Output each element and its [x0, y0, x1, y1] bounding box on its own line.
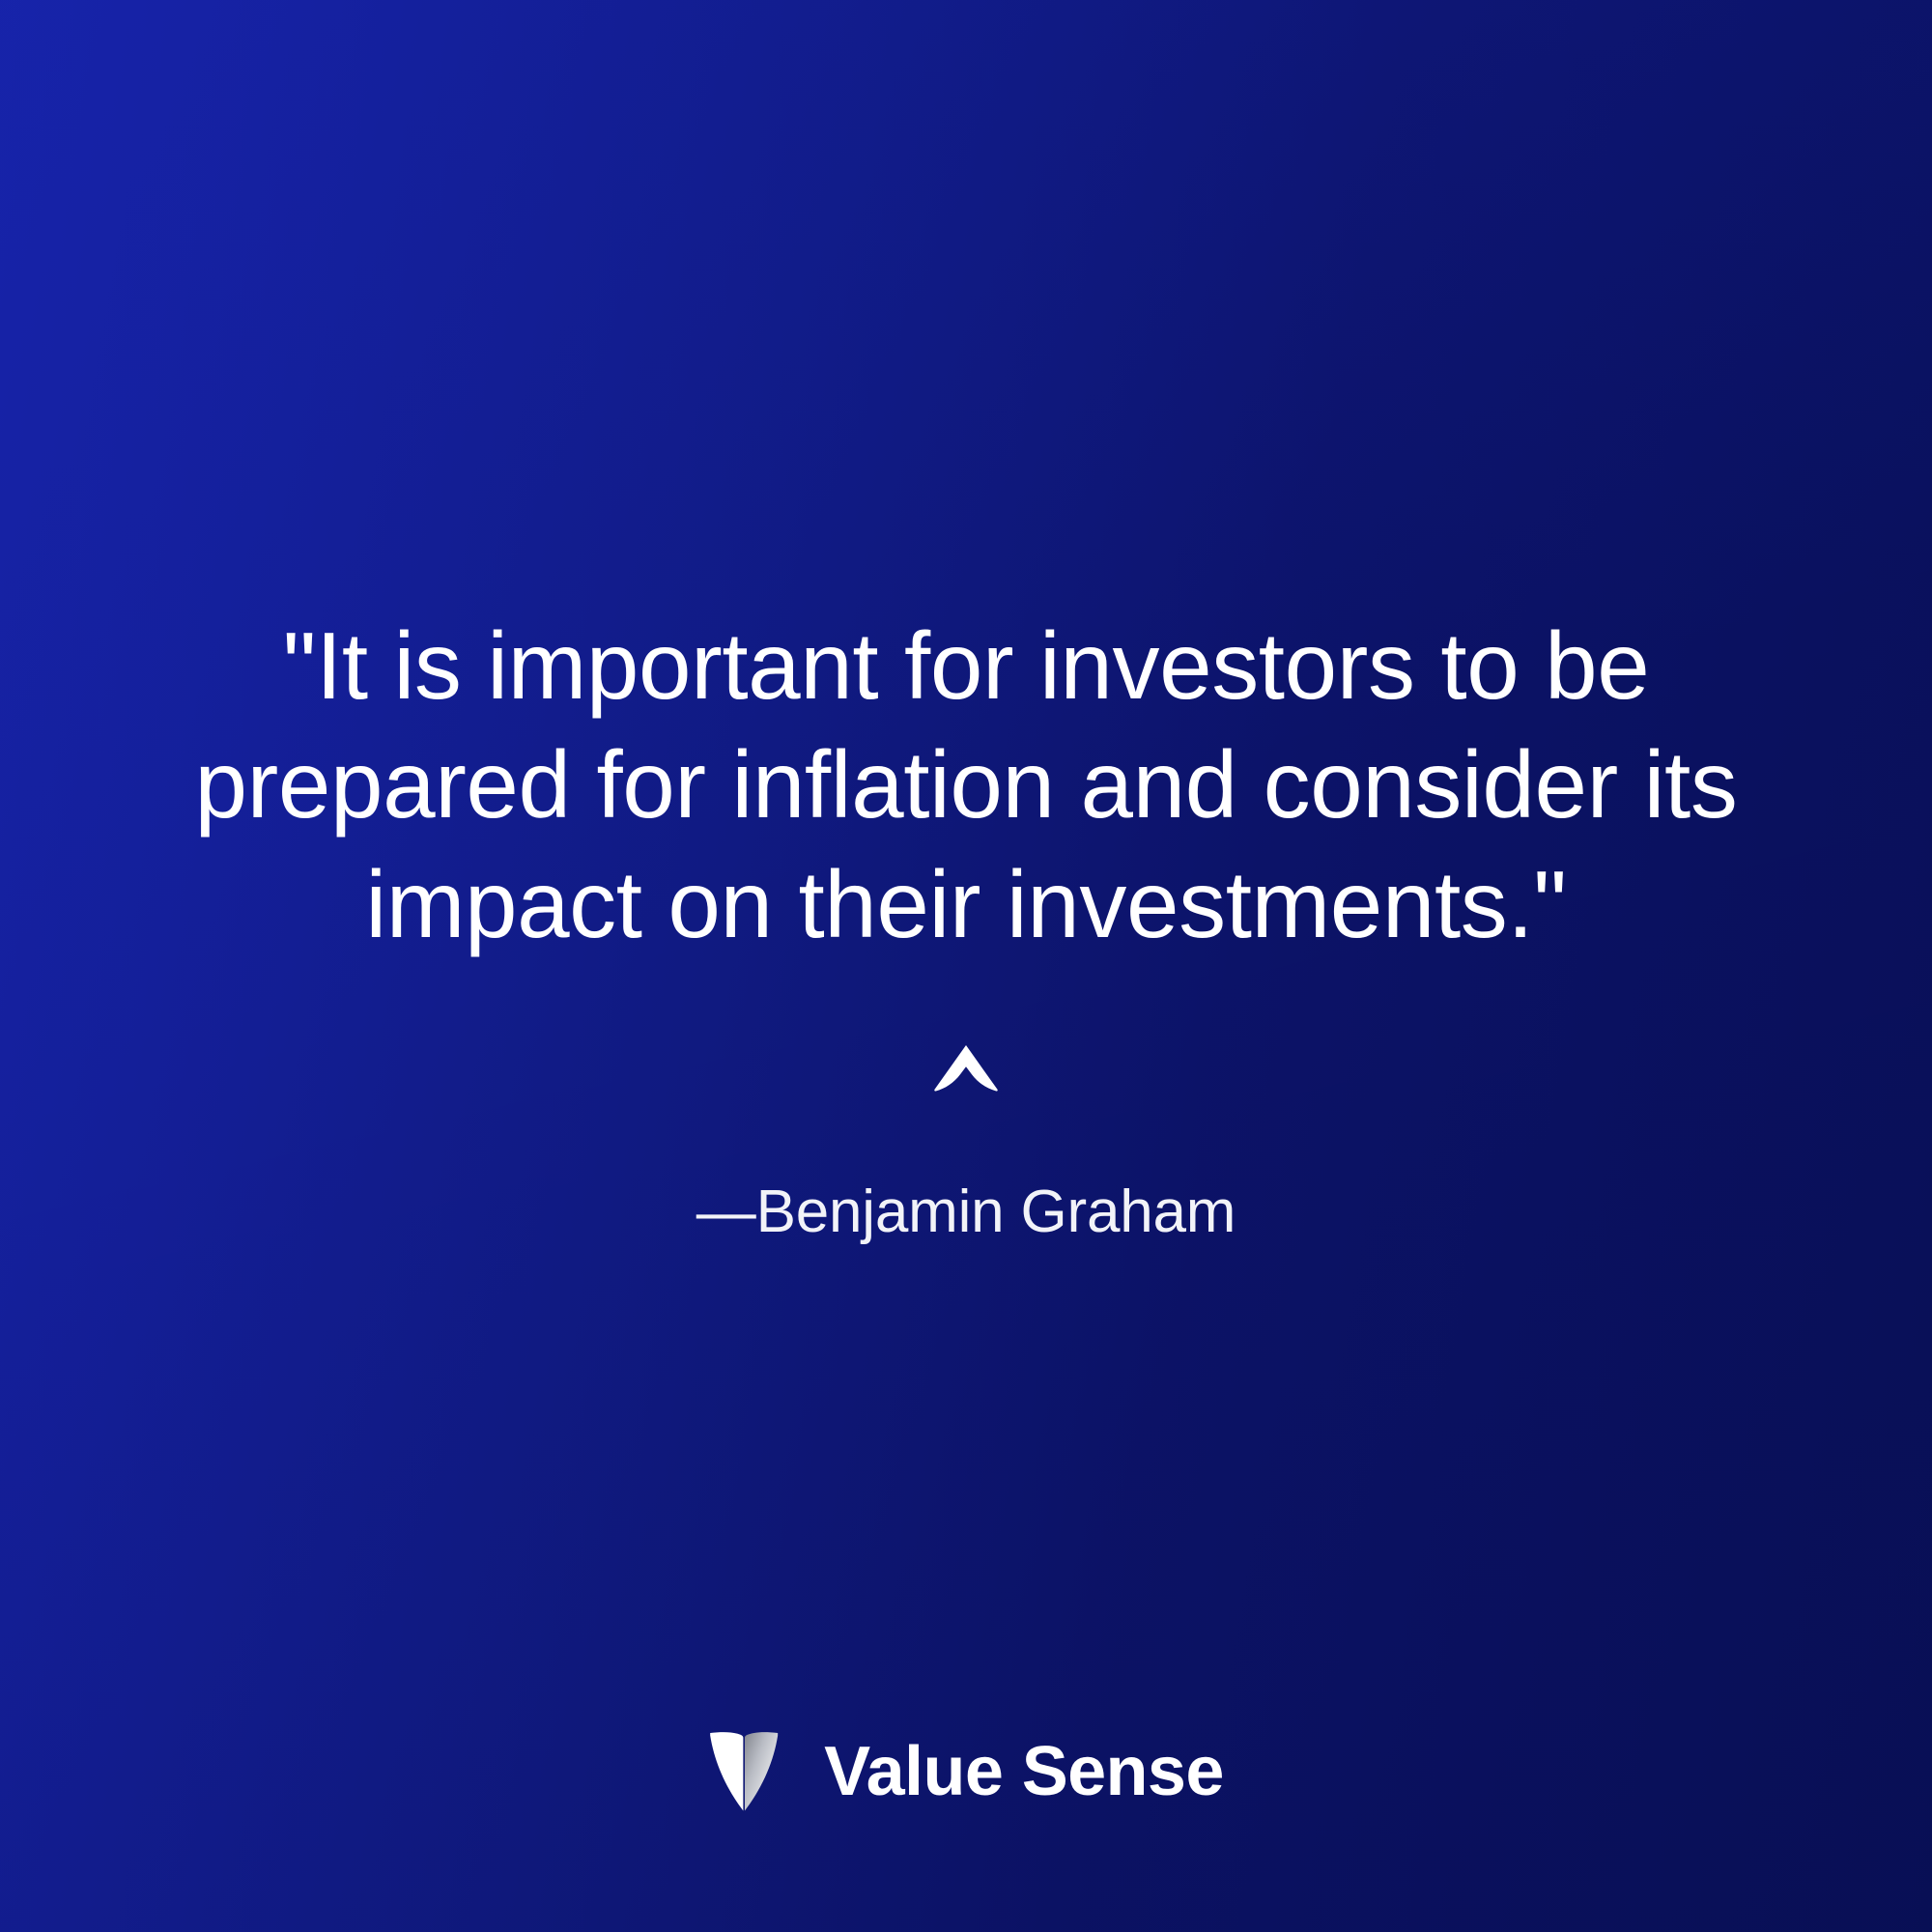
card-content: "It is important for investors to be pre…	[0, 0, 1932, 1932]
brand-lockup: Value Sense	[708, 1727, 1224, 1816]
quote-text: "It is important for investors to be pre…	[164, 607, 1768, 964]
divider	[931, 1043, 1001, 1103]
attribution: —Benjamin Graham	[290, 1177, 1642, 1248]
chevron-up-icon	[931, 1043, 1001, 1094]
brand-name: Value Sense	[824, 1737, 1224, 1806]
quote-block: "It is important for investors to be pre…	[164, 607, 1768, 964]
quote-card: "It is important for investors to be pre…	[0, 0, 1932, 1932]
value-sense-v-logo-icon	[708, 1727, 780, 1816]
attribution-text: —Benjamin Graham	[290, 1177, 1642, 1248]
